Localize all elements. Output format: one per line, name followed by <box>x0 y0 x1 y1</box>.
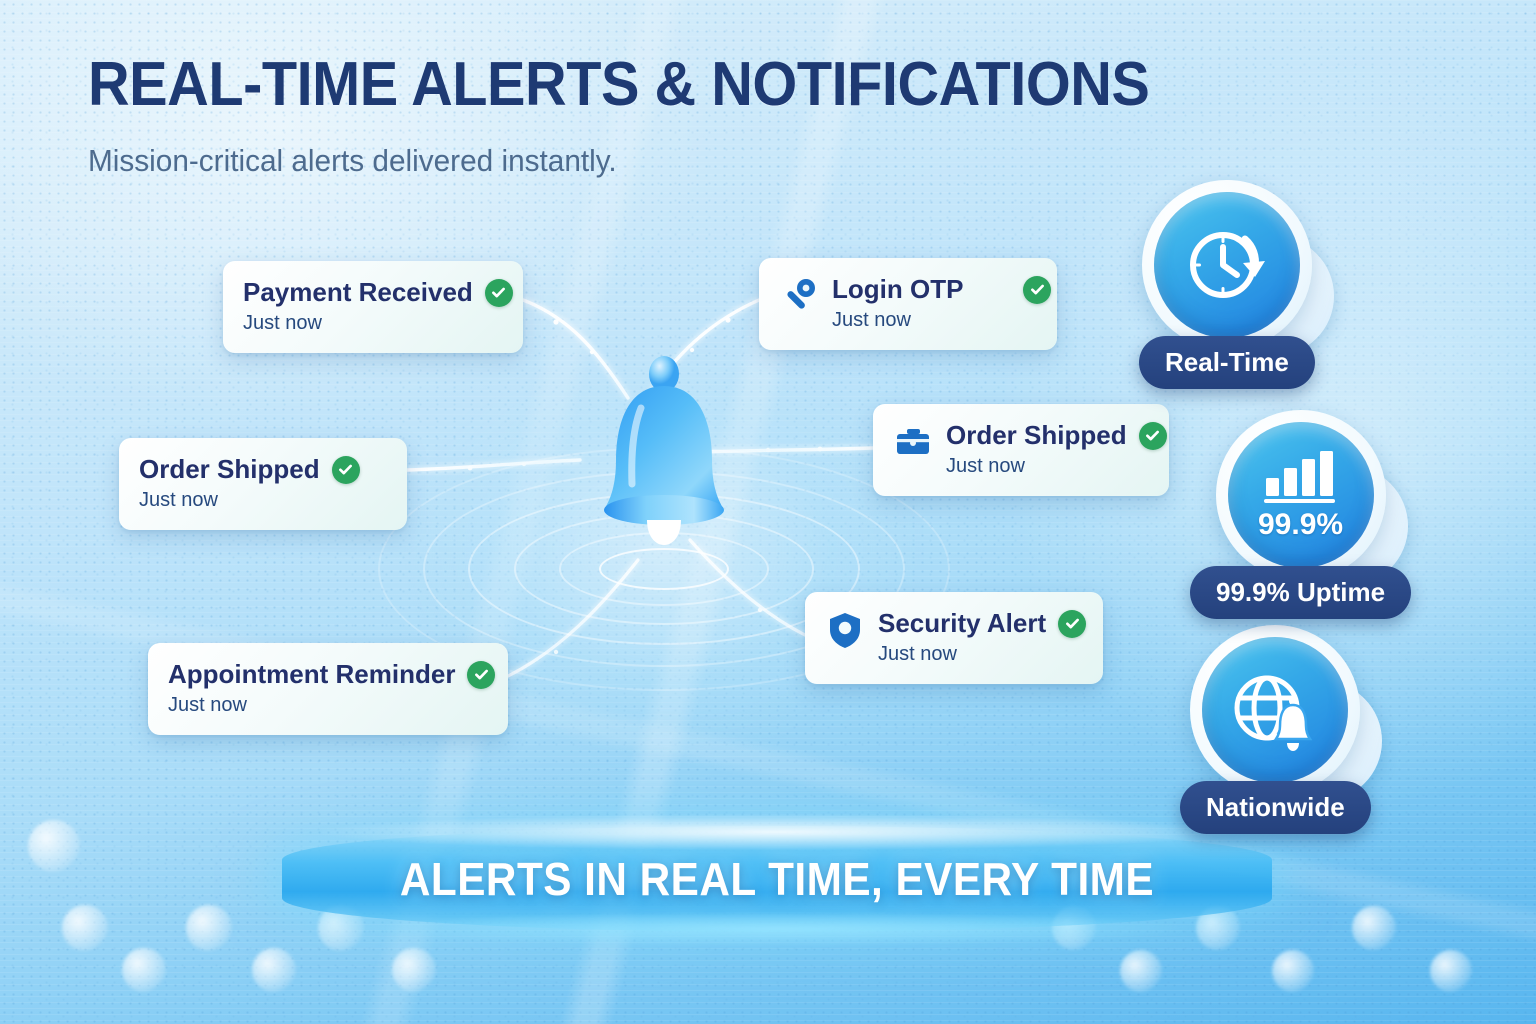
card-title: Order Shipped <box>139 454 320 485</box>
page-title: REAL-TIME ALERTS & NOTIFICATIONS <box>88 52 1149 117</box>
card-timestamp: Just now <box>139 489 360 512</box>
notification-card-order-shipped-left[interactable]: Order Shipped Just now <box>119 438 407 530</box>
card-body: Payment Received Just now <box>243 277 513 335</box>
notification-card-payment-received[interactable]: Payment Received Just now <box>223 261 523 353</box>
shield-icon <box>825 610 865 650</box>
card-title: Appointment Reminder <box>168 659 455 690</box>
card-timestamp: Just now <box>168 694 495 717</box>
bell-icon <box>589 352 739 567</box>
bokeh-circle <box>1120 950 1162 992</box>
check-circle-icon <box>332 456 360 484</box>
card-title-row: Payment Received <box>243 277 513 308</box>
notification-card-login-otp[interactable]: Login OTP Just now <box>759 258 1057 350</box>
header: REAL-TIME ALERTS & NOTIFICATIONS Mission… <box>88 52 1229 179</box>
bokeh-circle <box>1272 950 1314 992</box>
card-title-row: Order Shipped <box>139 454 360 485</box>
briefcase-icon <box>893 422 933 462</box>
globe-bell-icon <box>1225 662 1325 758</box>
card-body: Login OTP Just now <box>832 274 1051 332</box>
badge-uptime[interactable]: 99.9% 99.9% Uptime <box>1190 410 1411 619</box>
card-body: Order Shipped Just now <box>946 420 1167 478</box>
badge-medallion <box>1142 180 1312 350</box>
card-body: Order Shipped Just now <box>139 454 360 512</box>
badge-nationwide[interactable]: Nationwide <box>1180 625 1371 834</box>
card-body: Security Alert Just now <box>878 608 1086 666</box>
card-timestamp: Just now <box>878 643 1086 666</box>
bokeh-circle <box>252 948 296 992</box>
badge-label: Real-Time <box>1139 336 1315 389</box>
badge-label: 99.9% Uptime <box>1190 566 1411 619</box>
notification-card-security-alert[interactable]: Security Alert Just now <box>805 592 1103 684</box>
card-timestamp: Just now <box>832 309 1051 332</box>
bokeh-circle <box>28 820 80 872</box>
card-title: Payment Received <box>243 277 473 308</box>
card-title: Order Shipped <box>946 420 1127 451</box>
bar-chart-icon <box>1262 448 1340 506</box>
bokeh-circle <box>122 948 166 992</box>
card-body: Appointment Reminder Just now <box>168 659 495 717</box>
bokeh-circle <box>186 905 232 951</box>
bottom-banner: ALERTS IN REAL TIME, EVERY TIME <box>282 826 1272 932</box>
badge-real-time[interactable]: Real-Time <box>1139 180 1315 389</box>
clock-refresh-icon <box>1179 217 1275 313</box>
badge-medallion <box>1190 625 1360 795</box>
check-circle-icon <box>485 279 513 307</box>
check-circle-icon <box>467 661 495 689</box>
page-subtitle: Mission-critical alerts delivered instan… <box>88 143 1184 179</box>
card-title-row: Appointment Reminder <box>168 659 495 690</box>
card-title-row: Order Shipped <box>946 420 1167 451</box>
bokeh-circle <box>392 948 436 992</box>
card-title-row: Security Alert <box>878 608 1086 639</box>
badge-label: Nationwide <box>1180 781 1371 834</box>
medallion-face <box>1202 637 1348 783</box>
card-title: Login OTP <box>832 274 963 305</box>
bokeh-circle <box>1430 950 1472 992</box>
card-timestamp: Just now <box>243 312 513 335</box>
bokeh-circle <box>62 905 108 951</box>
medallion-value: 99.9% <box>1258 508 1343 542</box>
medallion-face: 99.9% <box>1228 422 1374 568</box>
check-circle-icon <box>1023 276 1051 304</box>
banner-text: ALERTS IN REAL TIME, EVERY TIME <box>322 826 1233 932</box>
key-icon <box>779 276 819 316</box>
card-title: Security Alert <box>878 608 1046 639</box>
bokeh-circle <box>1352 906 1396 950</box>
check-circle-icon <box>1139 422 1167 450</box>
card-title-row: Login OTP <box>832 274 1051 305</box>
medallion-face <box>1154 192 1300 338</box>
badge-medallion: 99.9% <box>1216 410 1386 580</box>
check-circle-icon <box>1058 610 1086 638</box>
notification-card-order-shipped-right[interactable]: Order Shipped Just now <box>873 404 1169 496</box>
card-timestamp: Just now <box>946 455 1167 478</box>
notification-card-appointment-reminder[interactable]: Appointment Reminder Just now <box>148 643 508 735</box>
